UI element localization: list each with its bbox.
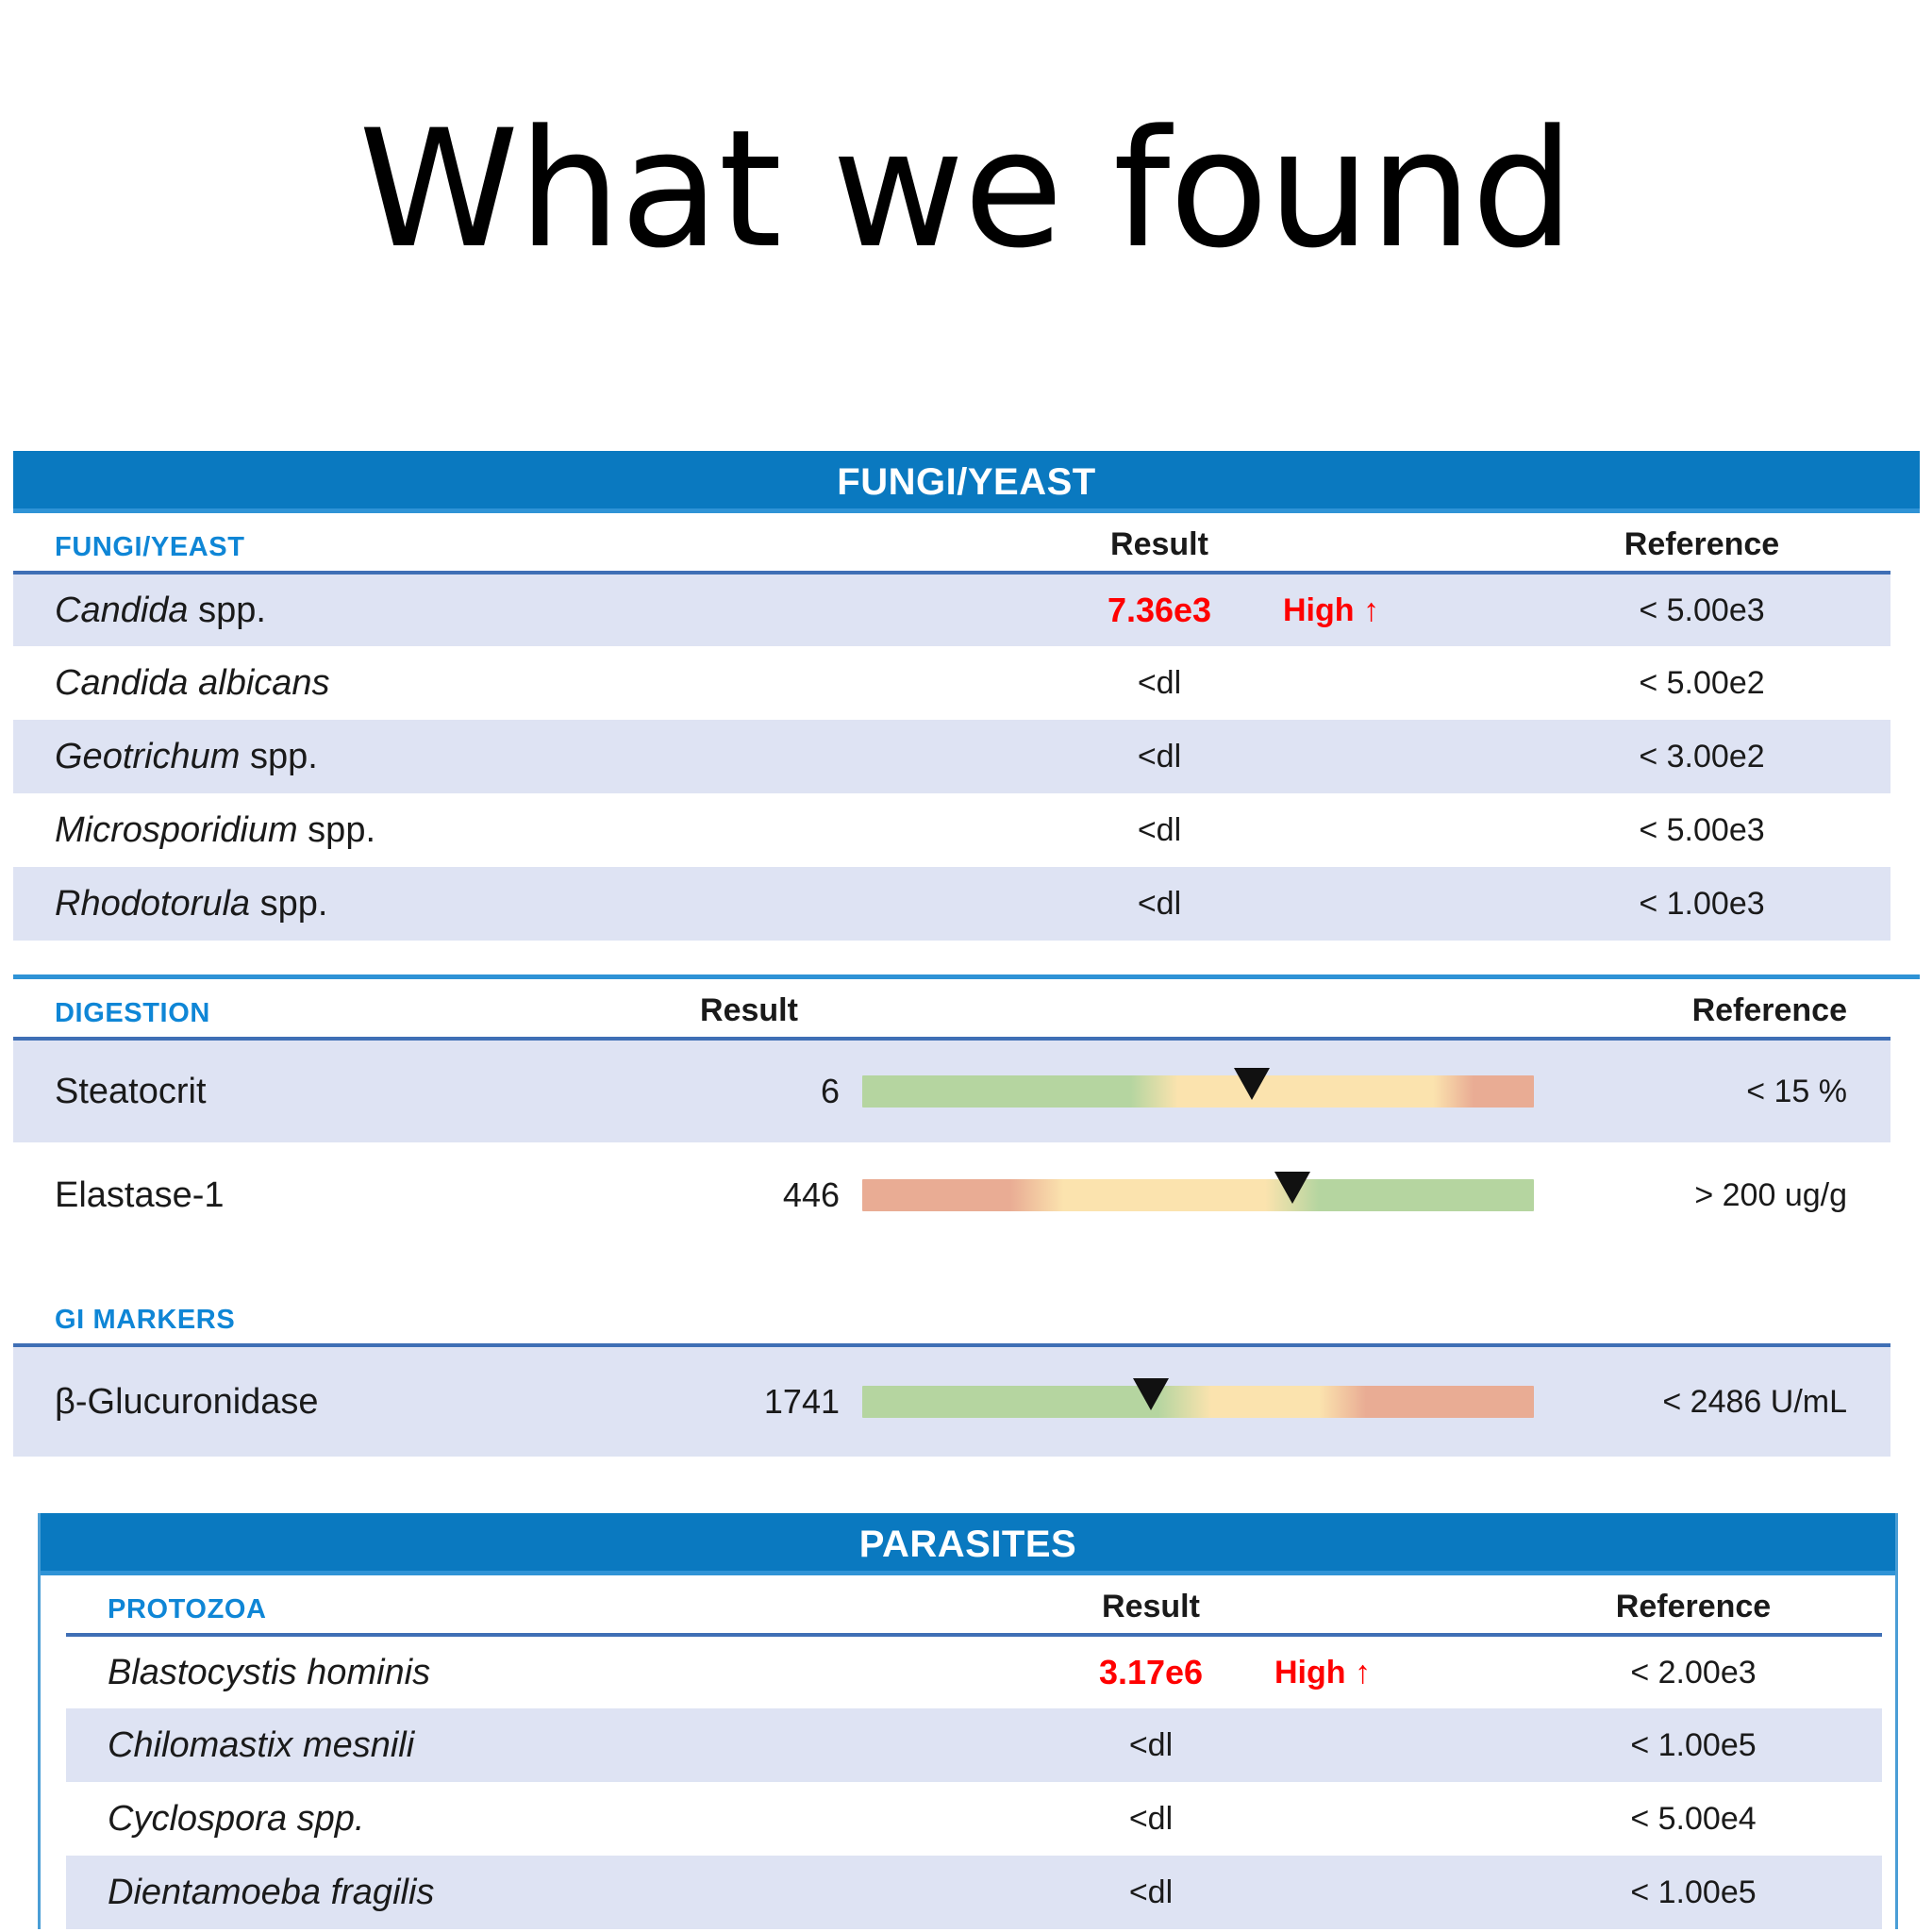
analyte-name: Geotrichum spp. [13,720,1041,793]
column-header-result [636,1291,862,1343]
column-header-reference [1534,1291,1890,1343]
analyte-name: Blastocystis hominis [66,1635,1033,1708]
table-row: Rhodotorula spp. <dl < 1.00e3 [13,867,1890,941]
status-badge [1269,1782,1505,1856]
digestion-table: DIGESTION Result Reference Steatocrit 6 … [13,979,1890,1248]
table-row: Candida albicans <dl < 5.00e2 [13,646,1890,720]
result-value: <dl [1041,646,1277,720]
gauge-marker-icon [1234,1068,1270,1100]
reference-range: > 200 ug/g [1534,1142,1890,1248]
result-value: 6 [636,1039,862,1142]
analyte-name-italic: Chilomastix mesnili [108,1725,414,1765]
section-label-gi-markers: GI MARKERS [13,1291,636,1343]
result-value: <dl [1041,720,1277,793]
status-badge [1277,867,1513,941]
analyte-name: β-Glucuronidase [13,1345,636,1457]
reference-range: < 2.00e3 [1505,1635,1882,1708]
reference-range: < 1.00e5 [1505,1708,1882,1782]
parasites-panel: PARASITES PROTOZOA Result Reference Blas… [38,1513,1898,1929]
result-value: <dl [1041,793,1277,867]
table-row: β-Glucuronidase 1741 < 2486 U/mL [13,1345,1890,1457]
analyte-name: Elastase-1 [13,1142,636,1248]
analyte-name: Dientamoeba fragilis [66,1856,1033,1929]
table-row: Dientamoeba fragilis <dl < 1.00e5 [66,1856,1882,1929]
analyte-name: Cyclospora spp. [66,1782,1033,1856]
page-title: What we found [0,104,1932,275]
result-value: 3.17e6 [1033,1635,1269,1708]
analyte-name: Chilomastix mesnili [66,1708,1033,1782]
status-badge [1277,793,1513,867]
status-badge [1269,1708,1505,1782]
section-label-digestion: DIGESTION [13,979,636,1037]
protozoa-table: PROTOZOA Result Reference Blastocystis h… [66,1575,1882,1929]
result-value: <dl [1033,1856,1269,1929]
result-value: 446 [636,1142,862,1248]
column-header-reference: Reference [1513,513,1890,571]
analyte-name: Rhodotorula spp. [13,867,1041,941]
range-gauge [862,1179,1534,1211]
analyte-name-italic: Geotrichum [55,737,240,776]
column-header-gauge [862,1291,1534,1343]
analyte-name: Candida spp. [13,573,1041,646]
reference-range: < 3.00e2 [1513,720,1890,793]
column-header-flag [1269,1575,1505,1633]
gauge-track [862,1179,1534,1211]
reference-range: < 5.00e3 [1513,573,1890,646]
reference-range: < 15 % [1534,1039,1890,1142]
analyte-name-italic: Candida albicans [55,663,330,703]
analyte-name-italic: Dientamoeba fragilis [108,1873,434,1912]
table-row: Steatocrit 6 < 15 % [13,1039,1890,1142]
table-header-row: DIGESTION Result Reference [13,979,1890,1037]
status-badge-label: High [1283,592,1355,628]
analyte-name-italic: Cyclospora spp. [108,1799,364,1839]
range-gauge [862,1386,1534,1418]
gauge-track [862,1386,1534,1418]
table-row: Candida spp. 7.36e3 High ↑ < 5.00e3 [13,573,1890,646]
column-header-result: Result [636,979,862,1037]
column-header-gauge [862,979,1534,1037]
analyte-name-italic: Blastocystis hominis [108,1653,430,1692]
gi-markers-table: GI MARKERS β-Glucuronidase 1741 < 2486 U… [13,1291,1890,1457]
column-header-result: Result [1041,513,1277,571]
analyte-name-rest: spp. [298,810,375,850]
table-header-row: GI MARKERS [13,1291,1890,1343]
status-badge: High ↑ [1277,573,1513,646]
analyte-name: Microsporidium spp. [13,793,1041,867]
analyte-name-rest: spp. [250,884,327,924]
analyte-name: Candida albicans [13,646,1041,720]
result-value: 7.36e3 [1041,573,1277,646]
table-header-row: FUNGI/YEAST Result Reference [13,513,1890,571]
column-header-flag [1277,513,1513,571]
status-badge [1269,1856,1505,1929]
range-gauge [862,1075,1534,1108]
table-row: Cyclospora spp. <dl < 5.00e4 [66,1782,1882,1856]
table-row: Blastocystis hominis 3.17e6 High ↑ < 2.0… [66,1635,1882,1708]
result-value: <dl [1033,1782,1269,1856]
result-value: <dl [1041,867,1277,941]
table-row: Geotrichum spp. <dl < 3.00e2 [13,720,1890,793]
reference-range: < 2486 U/mL [1534,1345,1890,1457]
spacer [0,941,1932,974]
table-header-row: PROTOZOA Result Reference [66,1575,1882,1633]
arrow-up-icon: ↑ [1355,1655,1371,1690]
reference-range: < 5.00e3 [1513,793,1890,867]
section-band-parasites: PARASITES [41,1513,1895,1575]
reference-range: < 5.00e4 [1505,1782,1882,1856]
reference-range: < 5.00e2 [1513,646,1890,720]
analyte-name-italic: Candida [55,591,189,630]
analyte-name-rest: spp. [240,737,317,776]
lab-report: FUNGI/YEAST FUNGI/YEAST Result Reference… [0,451,1932,1929]
section-label-fungi-yeast: FUNGI/YEAST [13,513,1041,571]
reference-range: < 1.00e3 [1513,867,1890,941]
reference-range: < 1.00e5 [1505,1856,1882,1929]
gauge-cell [862,1142,1534,1248]
table-row: Microsporidium spp. <dl < 5.00e3 [13,793,1890,867]
fungi-yeast-table: FUNGI/YEAST Result Reference Candida spp… [13,513,1890,941]
table-row: Elastase-1 446 > 200 ug/g [13,1142,1890,1248]
gauge-marker-icon [1274,1172,1310,1204]
arrow-up-icon: ↑ [1363,592,1379,628]
slide-root: What we found FUNGI/YEAST FUNGI/YEAST Re… [0,0,1932,1932]
spacer [0,1248,1932,1291]
column-header-reference: Reference [1534,979,1890,1037]
analyte-name-italic: Microsporidium [55,810,298,850]
analyte-name: Steatocrit [13,1039,636,1142]
gauge-cell [862,1345,1534,1457]
spacer [0,1457,1932,1513]
analyte-name-rest: spp. [189,591,266,630]
column-header-result: Result [1033,1575,1269,1633]
status-badge: High ↑ [1269,1635,1505,1708]
table-row: Chilomastix mesnili <dl < 1.00e5 [66,1708,1882,1782]
column-header-reference: Reference [1505,1575,1882,1633]
gauge-cell [862,1039,1534,1142]
result-value: 1741 [636,1345,862,1457]
result-value: <dl [1033,1708,1269,1782]
status-badge [1277,646,1513,720]
gauge-track [862,1075,1534,1108]
status-badge [1277,720,1513,793]
gauge-marker-icon [1133,1378,1169,1410]
section-band-fungi-yeast: FUNGI/YEAST [13,451,1920,513]
status-badge-label: High [1274,1655,1346,1690]
analyte-name-italic: Rhodotorula [55,884,250,924]
section-label-protozoa: PROTOZOA [66,1575,1033,1633]
